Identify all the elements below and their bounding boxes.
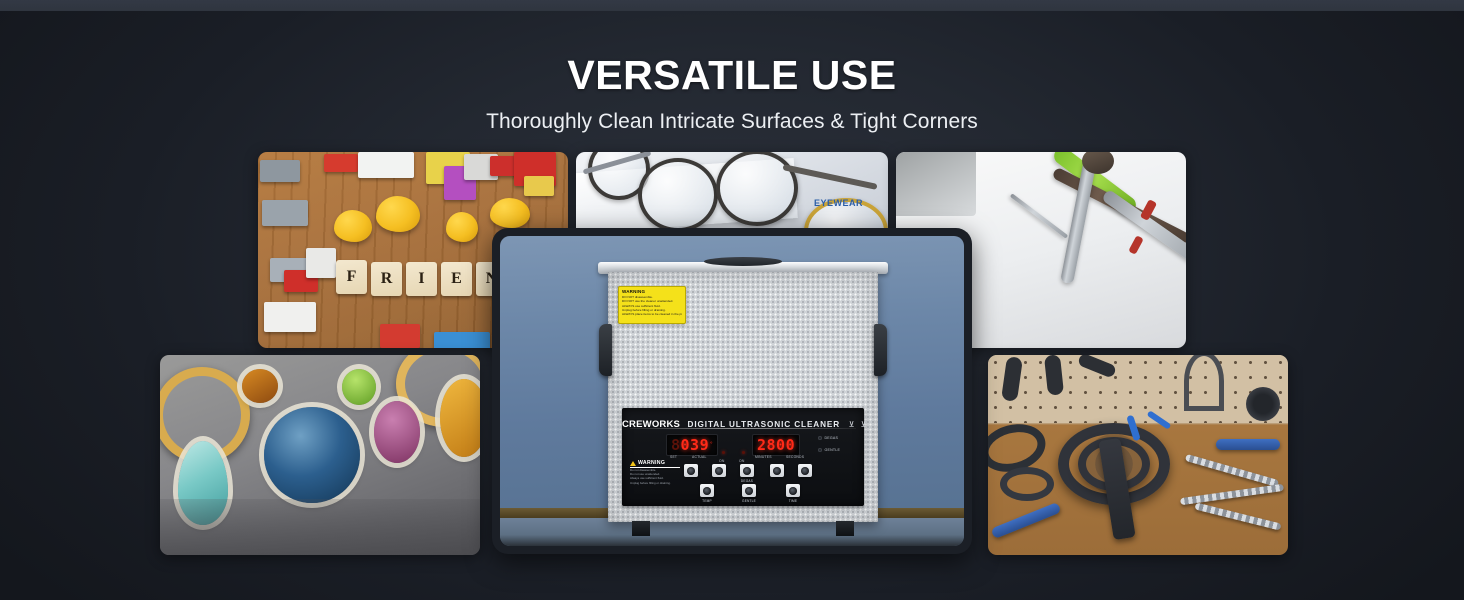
- temp-label-actual: ACTUAL: [692, 455, 707, 459]
- photo-tile-bike-parts: [988, 355, 1288, 555]
- top-accent-bar: [0, 0, 1464, 11]
- temp-button[interactable]: [700, 484, 714, 497]
- timer-label-minutes: MINUTES: [755, 455, 772, 459]
- panel-warning-line: Unplug before filling or draining.: [630, 481, 680, 485]
- time-button[interactable]: [786, 484, 800, 497]
- degas-button-label: DEGAS: [732, 479, 762, 483]
- ultrasonic-cleaner: WARNING DO NOT disassemble. DO NOT use t…: [598, 262, 888, 532]
- photo-tile-eyeglasses: EYEWEAR: [576, 152, 888, 240]
- gentle-led-icon: [818, 448, 822, 452]
- arrow-up-icon: [773, 467, 781, 475]
- indicator-label: DEGAS: [825, 436, 839, 440]
- indicator-label: GENTLE: [825, 448, 841, 452]
- timer-led: [742, 451, 745, 454]
- gentle-icon: [745, 487, 753, 495]
- on-marker: ON: [719, 459, 725, 463]
- side-handle-left: [599, 324, 612, 376]
- time-button-label: TIME: [778, 499, 808, 503]
- degas-led-icon: [818, 436, 822, 440]
- on-marker: ON: [739, 459, 745, 463]
- indicator-degas: DEGAS: [818, 436, 838, 440]
- temp-up-button[interactable]: [684, 464, 698, 477]
- degree-symbol: °: [710, 442, 712, 448]
- eyeglasses-photo: EYEWEAR: [576, 152, 888, 240]
- temp-ghost-digit: 8: [671, 437, 681, 453]
- page-title: VERSATILE USE: [0, 52, 1464, 99]
- temp-label-set: SET: [670, 455, 677, 459]
- temp-led: [722, 451, 725, 454]
- tank-warning-line: ALWAYS place items to be cleaned in the …: [622, 312, 682, 316]
- control-panel: CREWORKS DIGITAL ULTRASONIC CLEANER ⊻ ⊻ …: [622, 408, 864, 506]
- eyewear-logo: EYEWEAR: [814, 198, 863, 208]
- tank-body: WARNING DO NOT disassemble. DO NOT use t…: [608, 272, 878, 522]
- warning-triangle-icon: [630, 461, 636, 466]
- arrow-down-icon: [801, 467, 809, 475]
- foot-left: [632, 521, 650, 536]
- temp-icon: [703, 487, 711, 495]
- brand-row: CREWORKS DIGITAL ULTRASONIC CLEANER ⊻ ⊻: [622, 414, 864, 432]
- indicator-gentle: GENTLE: [818, 448, 840, 452]
- degas-icon: [743, 467, 751, 475]
- timer-label-seconds: SECONDS: [786, 455, 804, 459]
- gentle-button-label: GENTLE: [734, 499, 764, 503]
- product-backdrop: WARNING DO NOT disassemble. DO NOT use t…: [500, 236, 964, 546]
- tank-warning-sticker: WARNING DO NOT disassemble. DO NOT use t…: [618, 286, 686, 324]
- foot-right: [836, 521, 854, 536]
- page-subtitle: Thoroughly Clean Intricate Surfaces & Ti…: [0, 110, 1464, 134]
- timer-display: 2800: [752, 434, 800, 456]
- bike-parts-photo: [988, 355, 1288, 555]
- temp-value: 039: [681, 437, 710, 453]
- photo-tile-jewelry: [160, 355, 480, 555]
- temp-down-button[interactable]: [712, 464, 726, 477]
- arrow-down-icon: [715, 467, 723, 475]
- degas-button[interactable]: [740, 464, 754, 477]
- temperature-display: 8 039 °: [666, 434, 718, 456]
- arrow-up-icon: [687, 467, 695, 475]
- panel-warning-block: WARNING Do not disassemble. Do not use u…: [630, 460, 680, 485]
- panel-divider: [630, 428, 856, 429]
- time-icon: [789, 487, 797, 495]
- promo-banner: VERSATILE USE Thoroughly Clean Intricate…: [0, 0, 1464, 600]
- tank-warning-title: WARNING: [622, 289, 682, 294]
- time-up-button[interactable]: [770, 464, 784, 477]
- product-card: WARNING DO NOT disassemble. DO NOT use t…: [492, 228, 972, 554]
- panel-warning-title: WARNING: [638, 460, 665, 466]
- lid-handle-icon: [704, 257, 782, 266]
- side-handle-right: [874, 324, 887, 376]
- tank-warning-line: DO NOT use the cleaner unattended.: [622, 299, 682, 303]
- timer-value: 2800: [757, 437, 795, 453]
- time-down-button[interactable]: [798, 464, 812, 477]
- jewelry-photo: [160, 355, 480, 555]
- gentle-button[interactable]: [742, 484, 756, 497]
- temp-button-label: TEMP: [692, 499, 722, 503]
- panel-warning-header: WARNING: [630, 460, 680, 468]
